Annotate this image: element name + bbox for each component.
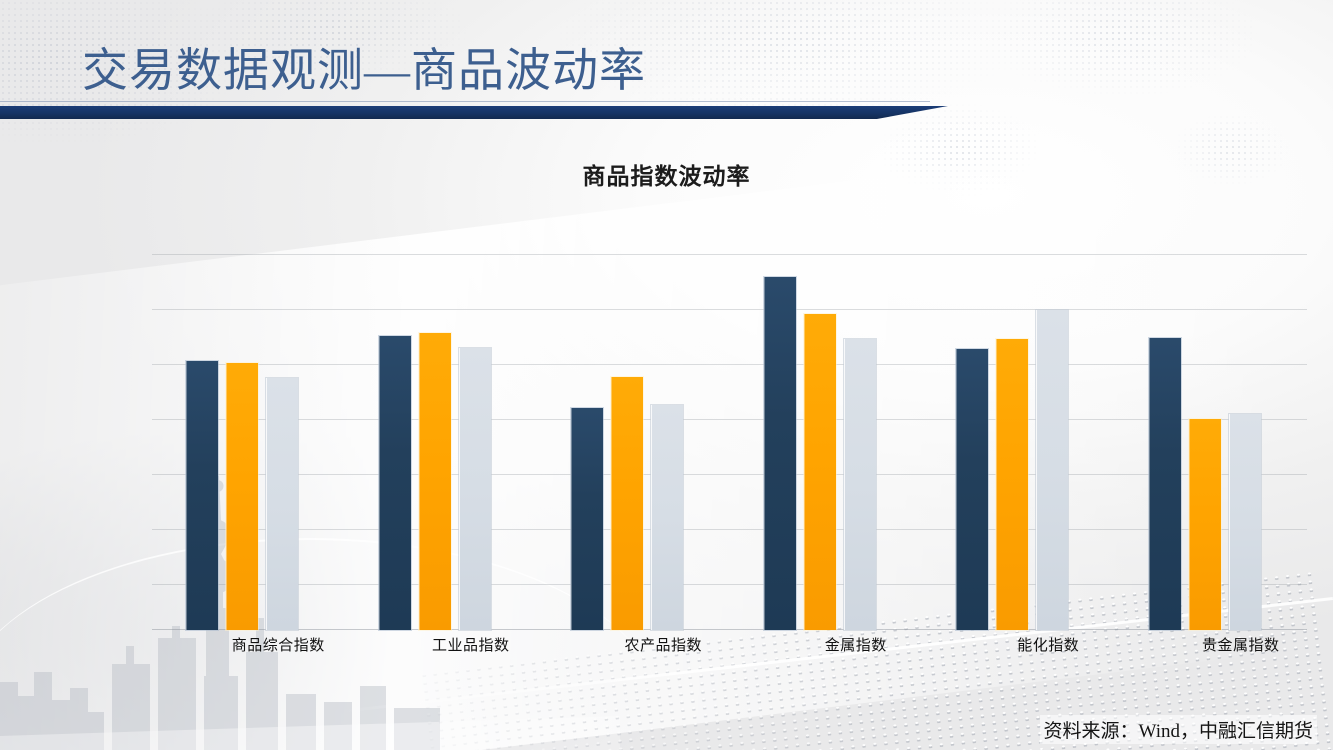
bar — [459, 348, 491, 630]
x-axis-category-label: 工业品指数 — [345, 634, 538, 655]
bar — [764, 277, 796, 630]
bar — [266, 378, 298, 630]
bar-group: 金属指数 — [730, 200, 923, 630]
bar — [956, 349, 988, 630]
x-axis-category-label: 农产品指数 — [537, 634, 730, 655]
x-axis-category-label-text: 农产品指数 — [624, 634, 702, 655]
bar-group: 商品综合指数 — [152, 200, 345, 630]
bar — [419, 333, 451, 630]
bar — [844, 339, 876, 630]
bar — [226, 363, 258, 630]
bar-groups: 商品综合指数工业品指数农产品指数金属指数能化指数贵金属指数 — [152, 200, 1307, 630]
x-axis-category-label: 能化指数 — [922, 634, 1115, 655]
bar-group: 能化指数 — [922, 200, 1115, 630]
bar — [651, 405, 683, 630]
bar — [379, 336, 411, 630]
x-axis-category-label: 金属指数 — [730, 634, 923, 655]
x-axis-category-label: 商品综合指数 — [152, 634, 345, 655]
x-axis-category-label-text: 贵金属指数 — [1202, 634, 1280, 655]
slide-canvas: 交易数据观测—商品波动率 商品指数波动率 商品综合指数工业品指数农产品指数金属指… — [0, 0, 1333, 750]
slide-header: 交易数据观测—商品波动率 — [0, 0, 1333, 120]
bar — [1189, 419, 1221, 630]
bar-group: 贵金属指数 — [1115, 200, 1308, 630]
page-title: 交易数据观测—商品波动率 — [82, 34, 646, 100]
source-note: 资料来源：Wind，中融汇信期货 — [1040, 715, 1317, 744]
title-divider-hairline — [0, 101, 930, 102]
bar — [996, 339, 1028, 630]
chart-title: 商品指数波动率 — [0, 157, 1333, 191]
bar — [611, 377, 643, 630]
bar — [804, 314, 836, 630]
x-axis-category-label-text: 工业品指数 — [432, 634, 510, 655]
x-axis-category-label-text: 商品综合指数 — [232, 634, 325, 655]
bar-chart-plot-area: 商品综合指数工业品指数农产品指数金属指数能化指数贵金属指数 — [152, 200, 1307, 630]
bar — [1036, 310, 1068, 630]
x-axis-category-label-text: 金属指数 — [825, 634, 887, 655]
bar — [571, 408, 603, 630]
bar — [1229, 414, 1261, 630]
bar-group: 工业品指数 — [345, 200, 538, 630]
bar — [186, 361, 218, 630]
x-axis-category-label-text: 能化指数 — [1017, 634, 1079, 655]
bar — [1149, 338, 1181, 630]
title-accent-bar — [0, 106, 948, 119]
x-axis-category-label: 贵金属指数 — [1115, 634, 1308, 655]
bar-group: 农产品指数 — [537, 200, 730, 630]
